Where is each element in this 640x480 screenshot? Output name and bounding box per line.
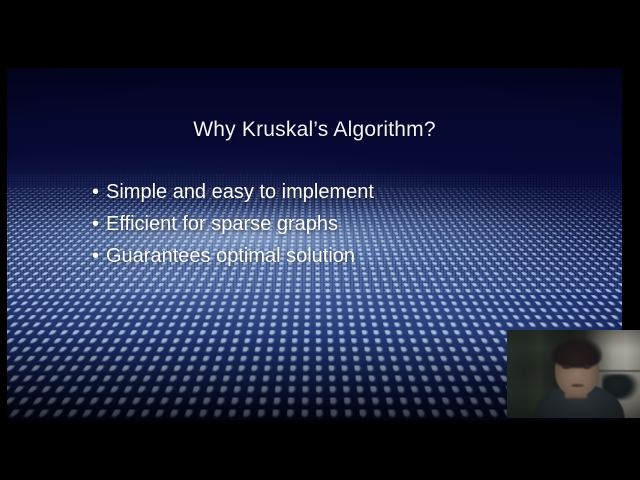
webcam-sensor-noise	[507, 330, 640, 418]
bullet-point-icon: •	[92, 180, 106, 204]
slide-bullet-list: • Simple and easy to implement • Efficie…	[92, 180, 374, 276]
bullet-point-icon: •	[92, 212, 106, 236]
video-player[interactable]: Why Kruskal’s Algorithm? • Simple and ea…	[0, 0, 640, 480]
slide-bullet-label: Efficient for sparse graphs	[106, 212, 338, 236]
bullet-point-icon: •	[92, 244, 106, 268]
slide-bullet-label: Simple and easy to implement	[106, 180, 374, 204]
slide-bullet-label: Guarantees optimal solution	[106, 244, 355, 268]
slide-bullet-item: • Guarantees optimal solution	[92, 244, 374, 268]
webcam-overlay[interactable]	[507, 330, 640, 418]
slide-bullet-item: • Efficient for sparse graphs	[92, 212, 374, 236]
slide-bullet-item: • Simple and easy to implement	[92, 180, 374, 204]
slide-title: Why Kruskal’s Algorithm?	[7, 118, 622, 142]
